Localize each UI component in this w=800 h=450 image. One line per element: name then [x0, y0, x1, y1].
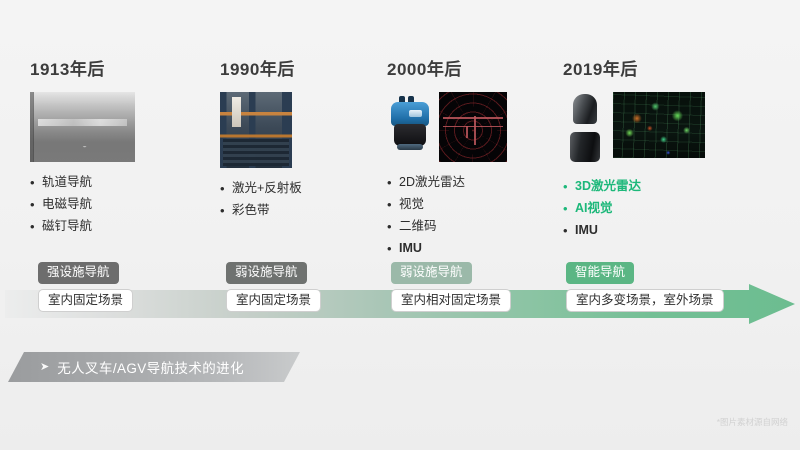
list-item: • 3D激光雷达 — [563, 180, 705, 193]
bullet-label: IMU — [575, 224, 598, 237]
stage-pill-2000: 弱设施导航 — [391, 262, 472, 284]
list-item: • 激光+反射板 — [220, 182, 302, 195]
column-title-2000: 2000年后 — [387, 55, 507, 80]
bullet-label: AI视觉 — [575, 202, 613, 215]
bullet-dot-icon: • — [563, 202, 575, 215]
scan-wall-line — [443, 126, 503, 128]
timeline-column-2000: 2000年后 • 2D激光雷达 • — [387, 55, 507, 264]
bullet-label: 彩色带 — [232, 204, 270, 217]
bullet-dot-icon: • — [30, 198, 42, 211]
2d-scan-map-photo — [439, 92, 507, 162]
column-images-2000 — [387, 92, 507, 162]
scan-wall-line — [443, 117, 503, 119]
bullet-dot-icon: • — [563, 180, 575, 193]
bullet-label: 激光+反射板 — [232, 182, 302, 195]
3d-point-cloud-photo — [613, 92, 705, 158]
bullet-dot-icon: • — [563, 224, 575, 237]
bullet-label: 视觉 — [399, 198, 424, 211]
list-item: • 电磁导航 — [30, 198, 135, 211]
bullet-list-1990: • 激光+反射板 • 彩色带 — [220, 182, 302, 217]
image-credit-footnote: *图片素材源自网络 — [717, 416, 788, 428]
column-title-1990: 1990年后 — [220, 55, 302, 80]
column-images-1990 — [220, 92, 302, 168]
column-images-2019 — [563, 92, 705, 166]
lidar-foot — [397, 144, 423, 150]
list-item: • IMU — [387, 242, 507, 255]
banner-title: 无人叉车/AGV导航技术的进化 — [57, 357, 244, 377]
bullet-label: 电磁导航 — [42, 198, 92, 211]
slide-canvas: 1913年后 • 轨道导航 • 电磁导航 • 磁钉导航 1990年后 — [0, 0, 800, 450]
bullet-dot-icon: • — [30, 220, 42, 233]
column-images-1913 — [30, 92, 135, 162]
bullet-list-2000: • 2D激光雷达 • 视觉 • 二维码 • IMU — [387, 176, 507, 255]
bullet-dot-icon: • — [387, 220, 399, 233]
timeline-column-1990: 1990年后 • 激光+反射板 • 彩色带 — [220, 55, 302, 226]
list-item: • 2D激光雷达 — [387, 176, 507, 189]
scan-wall-line — [466, 126, 468, 139]
scene-box-2019: 室内多变场景，室外场景 — [566, 289, 724, 313]
stage-group-2000: 弱设施导航 室内相对固定场景 — [391, 262, 511, 312]
scene-box-2000: 室内相对固定场景 — [391, 289, 511, 313]
lidar-dome — [573, 94, 597, 124]
list-item: • 彩色带 — [220, 204, 302, 217]
column-title-2019: 2019年后 — [563, 55, 705, 80]
lidar-puck — [570, 132, 600, 162]
list-item: • 视觉 — [387, 198, 507, 211]
bullet-label: IMU — [399, 242, 422, 255]
bullet-dot-icon: • — [220, 204, 232, 217]
bullet-label: 3D激光雷达 — [575, 180, 641, 193]
bullet-dot-icon: • — [387, 176, 399, 189]
stage-pill-1913: 强设施导航 — [38, 262, 119, 284]
list-item: • 轨道导航 — [30, 176, 135, 189]
bullet-label: 二维码 — [399, 220, 437, 233]
bullet-dot-icon: • — [30, 176, 42, 189]
stage-pill-2019: 智能导航 — [566, 262, 634, 284]
bullet-label: 磁钉导航 — [42, 220, 92, 233]
list-item: • IMU — [563, 224, 705, 237]
bullet-list-2019: • 3D激光雷达 • AI视觉 • IMU — [563, 180, 705, 237]
bullet-dot-icon: • — [220, 182, 232, 195]
timeline-stage-tags: 强设施导航 室内固定场景 弱设施导航 室内固定场景 弱设施导航 室内相对固定场景… — [0, 258, 800, 328]
bullet-dot-icon: • — [387, 198, 399, 211]
3d-lidar-photo — [563, 92, 607, 166]
factory-rail-photo — [30, 92, 135, 162]
stage-group-1990: 弱设施导航 室内固定场景 — [226, 262, 321, 312]
bullet-dot-icon: • — [387, 242, 399, 255]
timeline-column-2019: 2019年后 • 3D激光雷达 • AI视觉 • IMU — [563, 55, 705, 246]
bullet-label: 2D激光雷达 — [399, 176, 465, 189]
list-item: • AI视觉 — [563, 202, 705, 215]
stage-pill-1990: 弱设施导航 — [226, 262, 307, 284]
list-item: • 磁钉导航 — [30, 220, 135, 233]
timeline-column-1913: 1913年后 • 轨道导航 • 电磁导航 • 磁钉导航 — [30, 55, 135, 242]
scene-box-1990: 室内固定场景 — [226, 289, 321, 313]
lidar-lens — [409, 110, 422, 117]
chevron-right-icon: ➤ — [40, 362, 49, 373]
bottom-banner: ➤ 无人叉车/AGV导航技术的进化 — [8, 352, 300, 382]
list-item: • 二维码 — [387, 220, 507, 233]
stage-group-2019: 智能导航 室内多变场景，室外场景 — [566, 262, 724, 312]
column-title-1913: 1913年后 — [30, 55, 135, 80]
scene-box-1913: 室内固定场景 — [38, 289, 133, 313]
warehouse-rack-photo — [220, 92, 292, 168]
blue-2d-lidar-photo — [387, 92, 433, 154]
stage-group-1913: 强设施导航 室内固定场景 — [38, 262, 133, 312]
bullet-list-1913: • 轨道导航 • 电磁导航 • 磁钉导航 — [30, 176, 135, 233]
bullet-label: 轨道导航 — [42, 176, 92, 189]
scan-wall-line — [474, 116, 476, 145]
lidar-base — [394, 124, 426, 146]
